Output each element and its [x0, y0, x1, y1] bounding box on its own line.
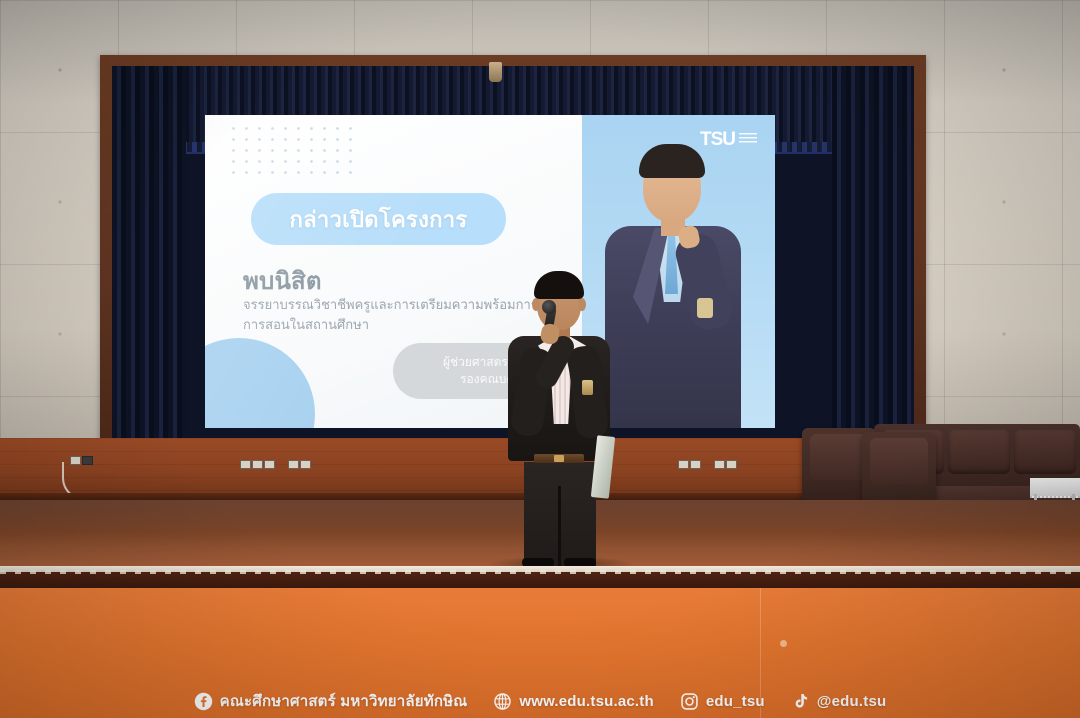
wall-outlet: [288, 460, 299, 469]
curtain-right-panel: [832, 66, 914, 438]
wall-outlet: [678, 460, 689, 469]
tsu-logo: TSU: [700, 129, 757, 151]
slide-title-text: กล่าวเปิดโครงการ: [289, 202, 467, 237]
stage-edge-trim: [0, 572, 1080, 588]
footer-label-instagram: edu_tsu: [706, 693, 765, 710]
slide-title-pill: กล่าวเปิดโครงการ: [251, 193, 506, 245]
globe-icon: [493, 692, 512, 711]
wall-outlet: [690, 460, 701, 469]
footer-item-tiktok[interactable]: @edu.tsu: [791, 692, 887, 711]
wall-outlet: [726, 460, 737, 469]
footer-label-facebook: คณะศึกษาศาสตร์ มหาวิทยาลัยทักษิณ: [220, 689, 468, 713]
dot-grid-pattern-topleft: [227, 123, 357, 175]
footer-label-tiktok: @edu.tsu: [817, 693, 887, 710]
footer-label-website: www.edu.tsu.ac.th: [519, 693, 654, 710]
wall-outlet: [240, 460, 251, 469]
contact-footer: คณะศึกษาศาสตร์ มหาวิทยาลัยทักษิณ www.edu…: [0, 588, 1080, 718]
curtain-left-panel: [112, 66, 186, 438]
auditorium-stage-photo: TSU กล่าวเปิดโครงการ พบนิสิต จรรยาบรรณวิ…: [0, 0, 1080, 718]
instagram-icon: [680, 692, 699, 711]
ceiling-light-fixture: [489, 62, 502, 82]
tsu-logo-text: TSU: [700, 129, 735, 151]
footer-item-facebook[interactable]: คณะศึกษาศาสตร์ มหาวิทยาลัยทักษิณ: [194, 689, 468, 713]
wall-outlet: [714, 460, 725, 469]
jacket-emblem: [582, 380, 593, 395]
wall-outlet: [264, 460, 275, 469]
wall-outlet: [300, 460, 311, 469]
projection-screen: TSU กล่าวเปิดโครงการ พบนิสิต จรรยาบรรณวิ…: [205, 115, 775, 428]
facebook-icon: [194, 692, 213, 711]
tiktok-icon: [791, 692, 810, 711]
tsu-logo-wordmark: [739, 133, 757, 144]
speaker-person: [500, 276, 618, 566]
footer-item-website[interactable]: www.edu.tsu.ac.th: [493, 692, 654, 711]
wall-outlet: [252, 460, 263, 469]
microphone-head: [542, 300, 556, 314]
footer-item-instagram[interactable]: edu_tsu: [680, 692, 765, 711]
